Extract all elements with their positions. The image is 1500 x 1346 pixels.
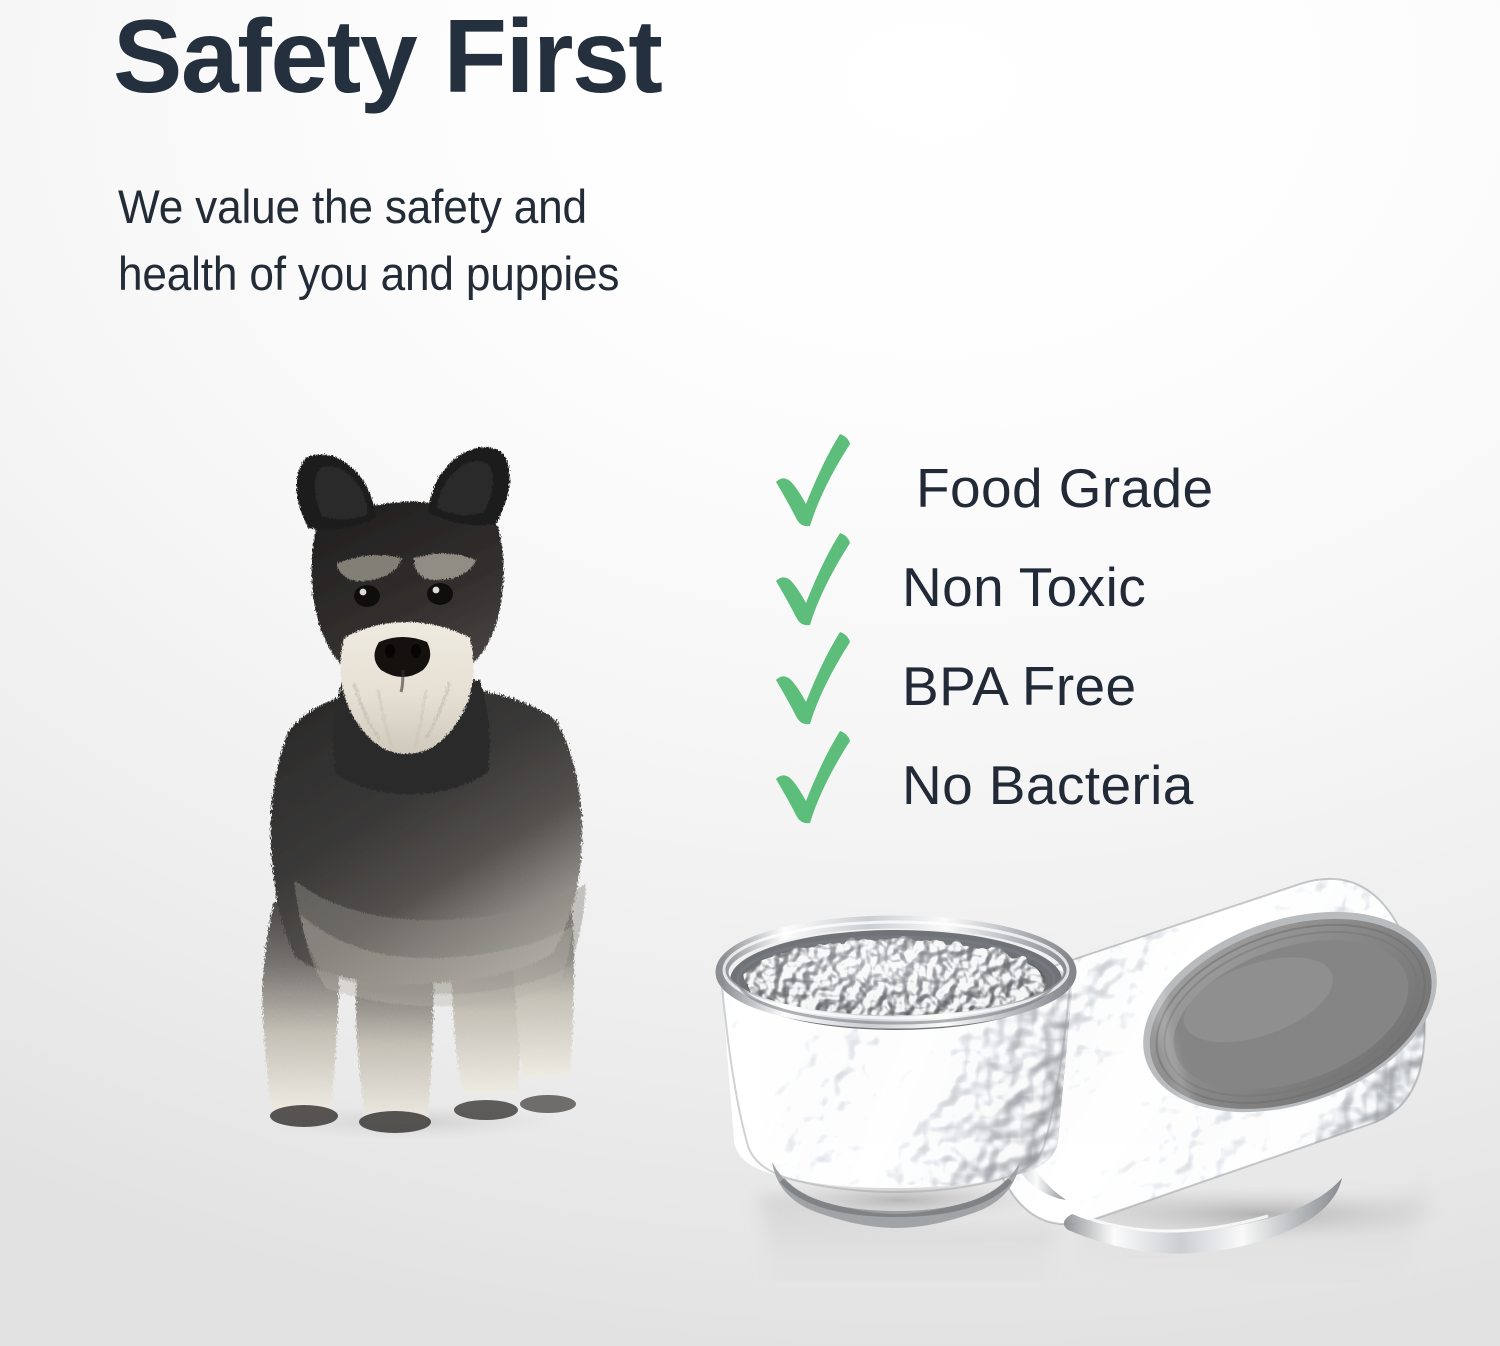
- stainless-steel-dog-bowls-photo: [700, 862, 1500, 1282]
- list-item: Food Grade: [770, 438, 1370, 537]
- check-icon: [770, 533, 862, 629]
- page-title: Safety First: [113, 0, 661, 119]
- subtitle-line-2: health of you and puppies: [118, 241, 619, 308]
- page-subtitle: We value the safety and health of you an…: [118, 174, 619, 307]
- list-item-label: BPA Free: [902, 654, 1137, 718]
- check-icon: [770, 632, 862, 728]
- list-item: Non Toxic: [770, 537, 1370, 636]
- list-item: No Bacteria: [770, 735, 1370, 834]
- list-item-label: Non Toxic: [902, 555, 1146, 619]
- check-icon: [770, 731, 862, 827]
- check-icon: [770, 434, 862, 530]
- list-item-label: No Bacteria: [902, 753, 1194, 817]
- safety-feature-list: Food Grade Non Toxic BPA Free: [770, 438, 1370, 834]
- list-item-label: Food Grade: [916, 456, 1214, 520]
- list-item: BPA Free: [770, 636, 1370, 735]
- miniature-schnauzer-photo: [196, 432, 616, 1140]
- safety-first-banner: Safety First We value the safety and hea…: [0, 0, 1500, 1346]
- subtitle-line-1: We value the safety and: [118, 174, 619, 241]
